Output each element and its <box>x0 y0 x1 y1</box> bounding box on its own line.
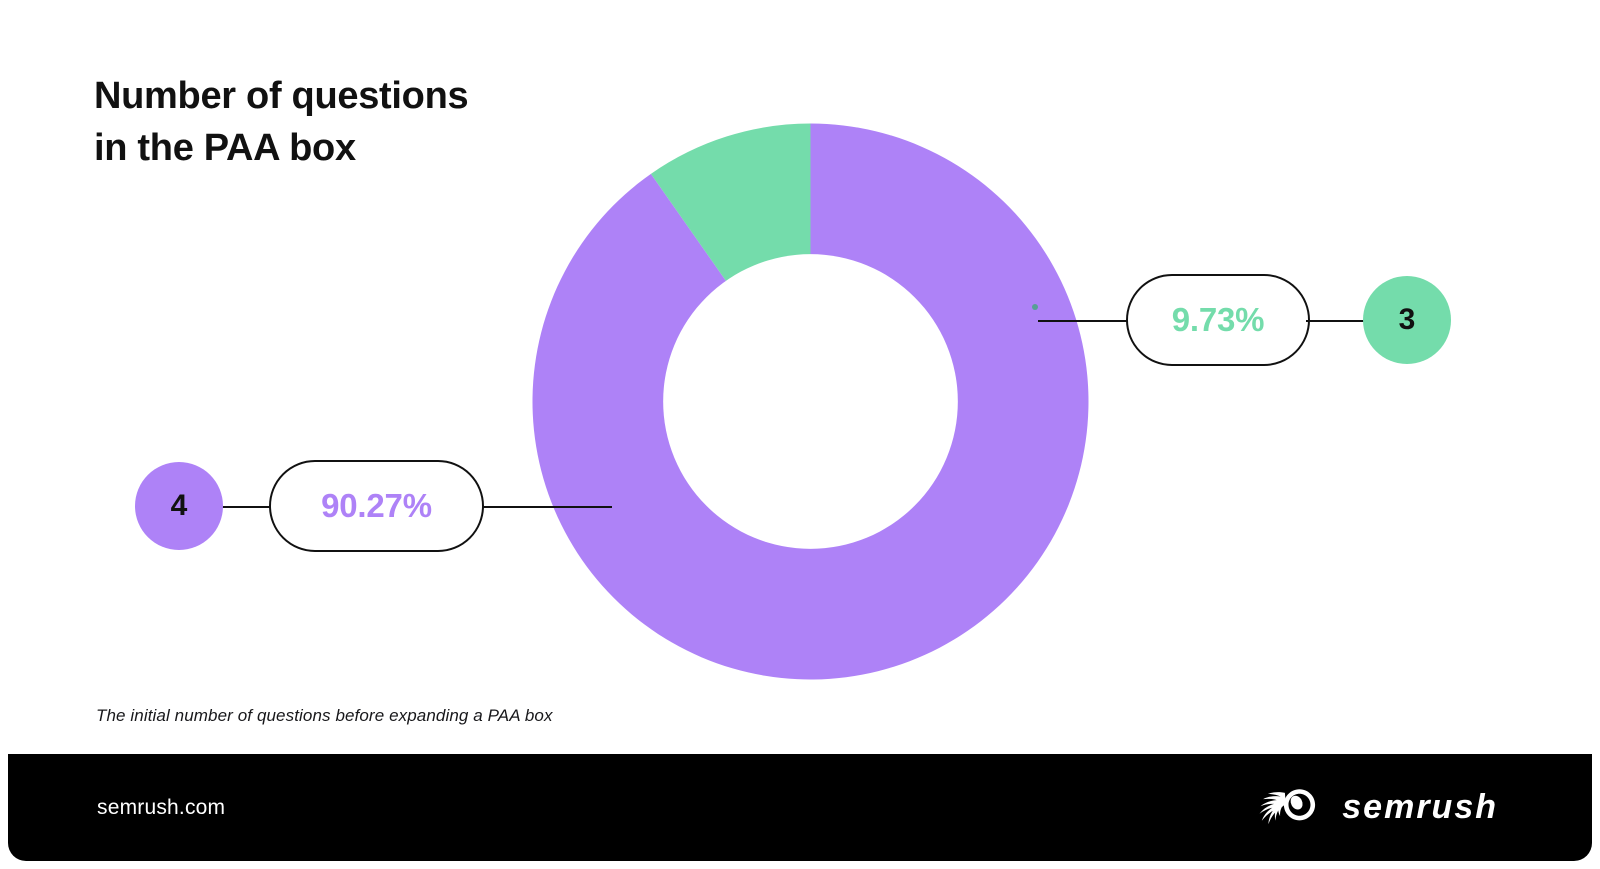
footer-url-label[interactable]: semrush.com <box>97 796 225 820</box>
callout-pill-purple[interactable]: 90.27% <box>269 460 484 552</box>
chart-card: Number of questions in the PAA box 9.73%… <box>8 8 1592 861</box>
callout-pill-green[interactable]: 9.73% <box>1126 274 1310 366</box>
chart-caption: The initial number of questions before e… <box>96 706 553 726</box>
semrush-flame-icon <box>1254 785 1328 830</box>
slice-marker-dot <box>1032 304 1038 310</box>
footer-bar: semrush.com semrush <box>8 754 1592 861</box>
donut-hole <box>663 254 958 549</box>
leader-line-green-outer <box>1306 320 1366 322</box>
infographic-canvas: Number of questions in the PAA box 9.73%… <box>0 0 1600 869</box>
value-bubble-purple[interactable]: 4 <box>135 462 223 550</box>
leader-line-purple-outer <box>221 506 271 508</box>
brand-wordmark: semrush <box>1342 788 1498 827</box>
brand-logo: semrush <box>1254 785 1498 830</box>
donut-chart <box>532 123 1089 680</box>
leader-line-green-inner <box>1038 320 1130 322</box>
value-bubble-green[interactable]: 3 <box>1363 276 1451 364</box>
donut-chart-svg <box>532 123 1089 680</box>
leader-line-purple-inner <box>482 506 612 508</box>
